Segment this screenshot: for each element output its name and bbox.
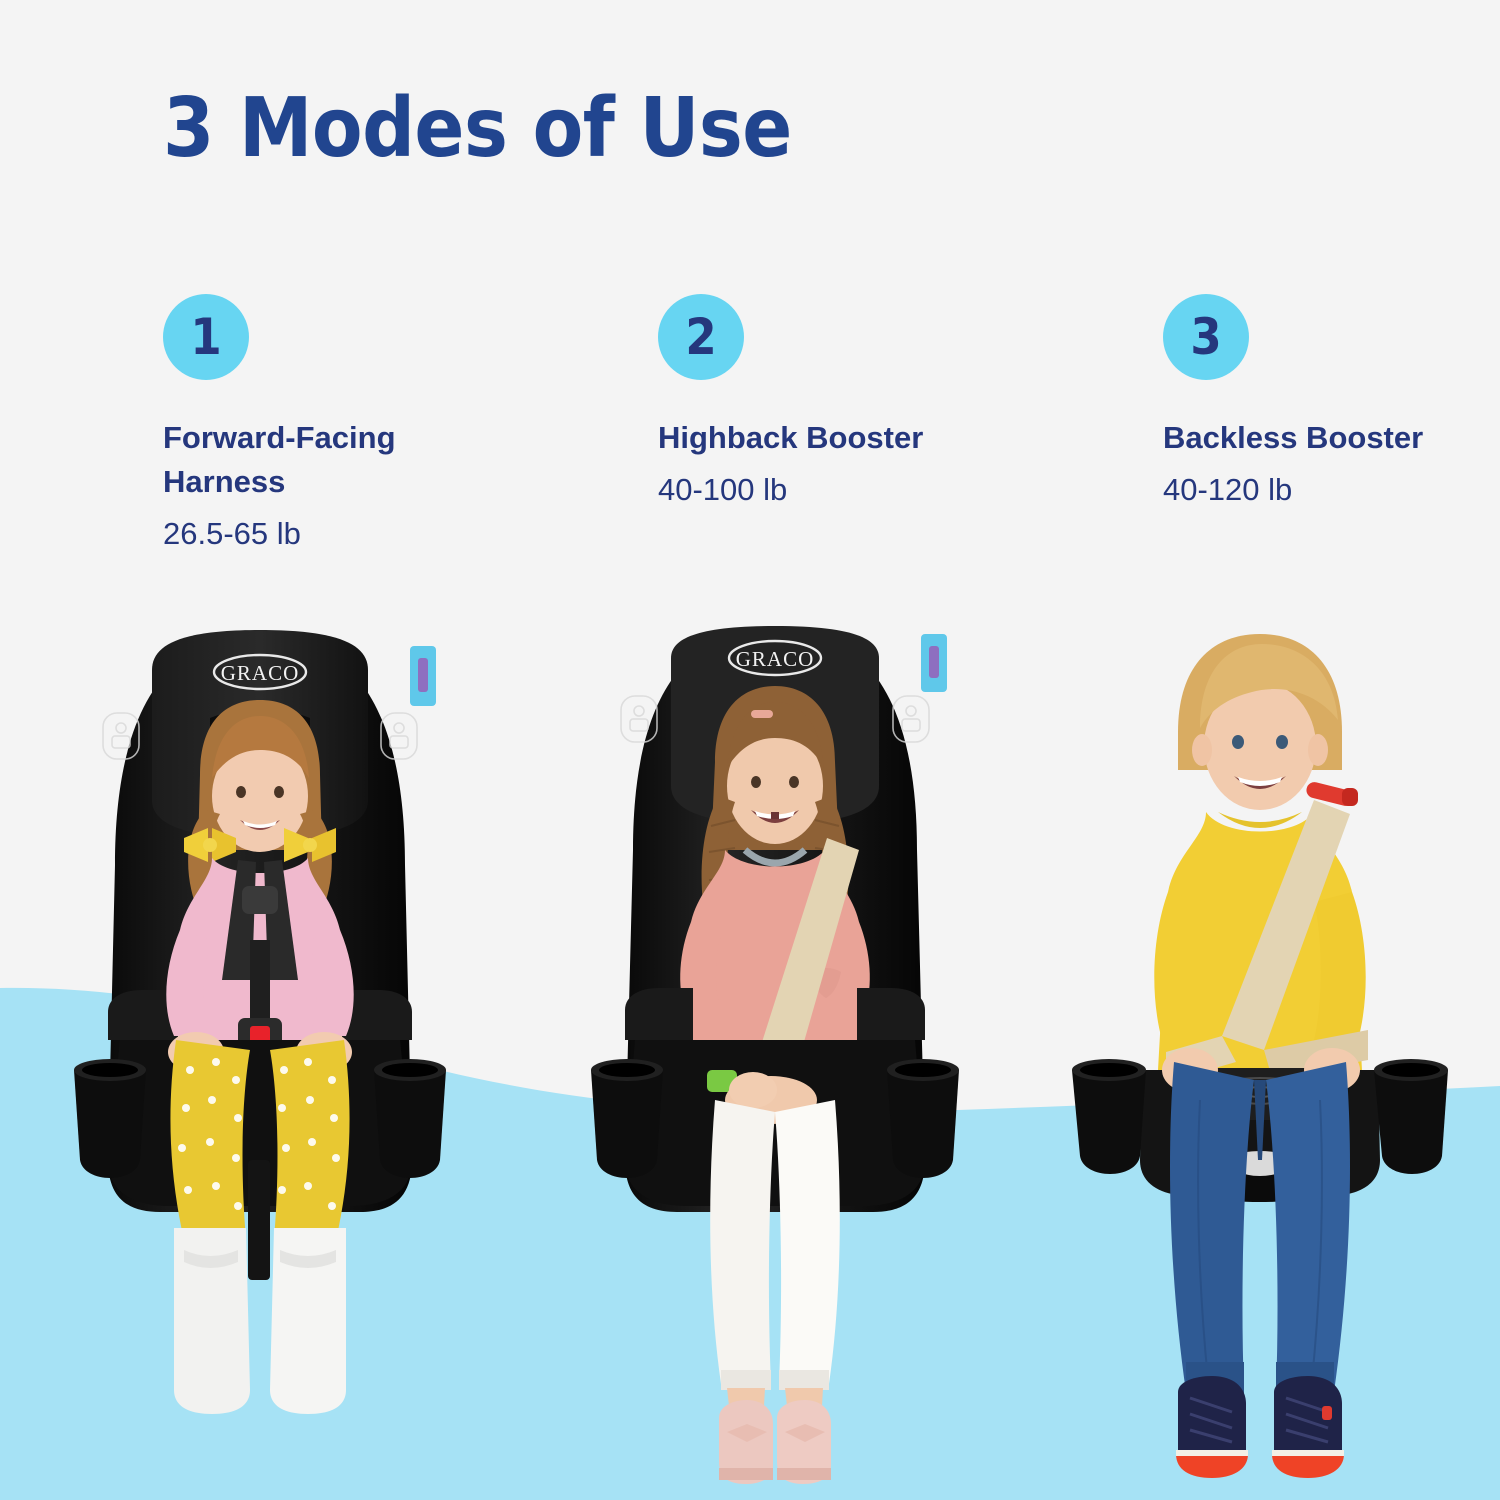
page-title: 3 Modes of Use (163, 88, 792, 170)
mode-column-3: 3 Backless Booster 40-120 lb (1163, 294, 1500, 510)
cup-holder-right-3 (1374, 1059, 1448, 1174)
svg-text:GRACO: GRACO (221, 661, 300, 685)
graco-logo-1: GRACO (214, 655, 306, 689)
mode-weight-1: 26.5-65 lb (163, 514, 593, 554)
product-photo-highback-booster: GRACO (575, 600, 975, 1500)
graco-logo-2: GRACO (729, 641, 821, 675)
seat-hang-tag-2 (921, 634, 947, 692)
child-shoes-3 (1176, 1376, 1344, 1478)
mode-badge-1: 1 (163, 294, 249, 380)
infographic-canvas: 3 Modes of Use 1 Forward-Facing Harness … (0, 0, 1500, 1500)
mode-title-2: Highback Booster (658, 416, 948, 460)
cup-holder-right-2 (887, 1059, 959, 1178)
cup-holder-right-1 (374, 1059, 446, 1178)
seat-hang-tag-1 (410, 646, 436, 706)
mode-weight-2: 40-100 lb (658, 470, 1088, 510)
mode-column-1: 1 Forward-Facing Harness 26.5-65 lb (163, 294, 593, 554)
mode-badge-3: 3 (1163, 294, 1249, 380)
cup-holder-left-3 (1072, 1059, 1146, 1174)
cup-holder-left-1 (74, 1059, 146, 1178)
mode-column-2: 2 Highback Booster 40-100 lb (658, 294, 1088, 510)
child-jeans-3 (1170, 1062, 1350, 1396)
child-shoes-2 (719, 1400, 831, 1484)
product-photo-harness: GRACO (60, 600, 460, 1500)
mode-weight-3: 40-120 lb (1163, 470, 1500, 510)
svg-text:GRACO: GRACO (736, 647, 815, 671)
mode-badge-2: 2 (658, 294, 744, 380)
product-photo-backless-booster (1050, 600, 1470, 1500)
cup-holder-left-2 (591, 1059, 663, 1178)
mode-title-1: Forward-Facing Harness (163, 416, 453, 504)
chest-clip-1 (242, 886, 278, 914)
mode-title-3: Backless Booster (1163, 416, 1453, 460)
hair-clip-2 (751, 710, 773, 718)
